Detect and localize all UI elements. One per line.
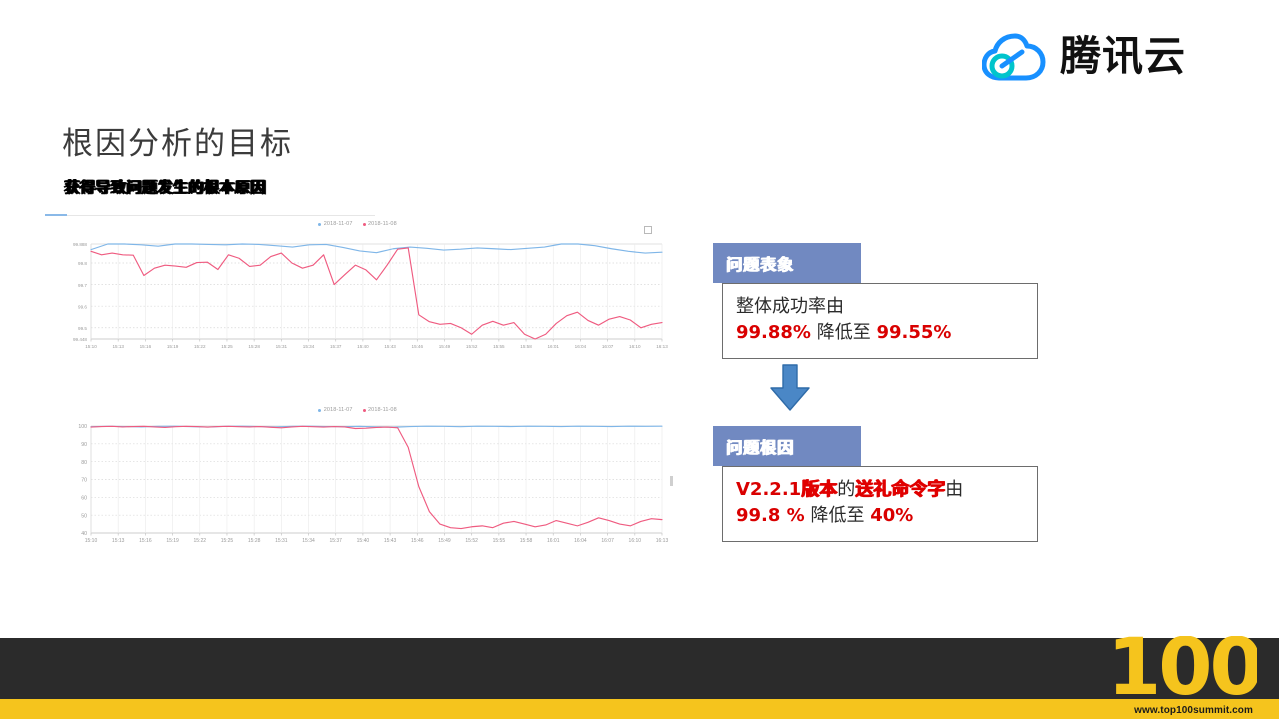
callout-text: 由	[945, 479, 963, 500]
callout-body: V2.2.1版本的送礼命令字由 99.8 % 降低至 40%	[722, 466, 1038, 542]
svg-text:80: 80	[81, 460, 87, 466]
svg-text:15:22: 15:22	[194, 538, 207, 544]
svg-text:15:28: 15:28	[248, 344, 260, 349]
svg-text:15:58: 15:58	[520, 344, 532, 349]
svg-text:15:31: 15:31	[276, 344, 288, 349]
svg-text:90: 90	[81, 442, 87, 448]
callout-text: 的	[837, 479, 855, 500]
svg-text:40: 40	[81, 531, 87, 537]
metric-after: 40%	[870, 505, 913, 526]
svg-text:15:37: 15:37	[329, 538, 342, 544]
svg-text:50: 50	[81, 513, 87, 519]
svg-text:16:13: 16:13	[656, 344, 668, 349]
callout-body: 整体成功率由 99.88% 降低至 99.55%	[722, 283, 1038, 359]
metric-after: 99.55%	[876, 322, 951, 343]
svg-text:99.448: 99.448	[73, 337, 87, 342]
svg-text:100: 100	[1107, 636, 1257, 698]
footer-bar	[0, 638, 1279, 699]
svg-text:99.888: 99.888	[73, 242, 87, 247]
svg-text:15:13: 15:13	[112, 344, 124, 349]
svg-text:15:49: 15:49	[438, 538, 451, 544]
svg-text:99.6: 99.6	[78, 304, 87, 309]
svg-text:15:55: 15:55	[493, 538, 506, 544]
svg-text:70: 70	[81, 478, 87, 484]
svg-text:15:25: 15:25	[221, 538, 234, 544]
svg-text:16:01: 16:01	[547, 538, 560, 544]
chart-panel-success-rate: 2018-11-07 2018-11-08 99.88899.899.799.6…	[45, 212, 670, 357]
svg-text:16:10: 16:10	[629, 538, 642, 544]
metric-before: 99.8 %	[736, 505, 805, 526]
callout-text: 整体成功率由	[736, 296, 844, 317]
svg-text:15:43: 15:43	[384, 538, 397, 544]
svg-text:15:31: 15:31	[275, 538, 288, 544]
svg-text:15:34: 15:34	[302, 538, 315, 544]
svg-text:15:22: 15:22	[194, 344, 206, 349]
version-label: V2.2.1	[736, 479, 801, 500]
arrow-down-icon	[768, 364, 812, 412]
svg-text:15:52: 15:52	[465, 538, 478, 544]
svg-text:99.7: 99.7	[78, 283, 87, 288]
chart1-plot-area: 99.88899.899.799.699.599.44815:1015:1315…	[45, 212, 670, 357]
svg-text:15:37: 15:37	[330, 344, 342, 349]
svg-text:99.8: 99.8	[78, 261, 87, 266]
chart-panel-command-success: 2018-11-07 2018-11-08 10090807060504015:…	[45, 398, 670, 553]
callout-line-2: 99.88% 降低至 99.55%	[736, 320, 1024, 346]
svg-text:15:13: 15:13	[112, 538, 125, 544]
svg-text:60: 60	[81, 496, 87, 502]
svg-text:15:40: 15:40	[357, 538, 370, 544]
page-title: 根因分析的目标	[62, 118, 293, 163]
brand-logo: 腾讯云	[982, 30, 1186, 82]
tencent-cloud-logo-icon	[982, 30, 1046, 82]
svg-text:15:28: 15:28	[248, 538, 261, 544]
callout-root-cause: 问题根因 V2.2.1版本的送礼命令字由 99.8 % 降低至 40%	[713, 426, 1043, 551]
callout-line-1: 整体成功率由	[736, 294, 1024, 320]
svg-text:16:07: 16:07	[601, 538, 614, 544]
svg-text:99.5: 99.5	[78, 326, 87, 331]
chart2-plot-area: 10090807060504015:1015:1315:1615:1915:22…	[45, 398, 670, 553]
slide-root: 腾讯云 根因分析的目标 获得导致问题发生的根本原因 2018-11-07 201…	[0, 0, 1279, 719]
svg-text:16:13: 16:13	[656, 538, 669, 544]
svg-text:15:16: 15:16	[139, 538, 152, 544]
svg-text:15:46: 15:46	[411, 538, 424, 544]
callout-problem-symptom: 问题表象 整体成功率由 99.88% 降低至 99.55%	[713, 243, 1043, 361]
svg-text:15:49: 15:49	[439, 344, 451, 349]
svg-text:15:43: 15:43	[384, 344, 396, 349]
svg-text:15:25: 15:25	[221, 344, 233, 349]
callout-header-text: 问题根因	[726, 434, 794, 458]
svg-text:16:10: 16:10	[629, 344, 641, 349]
metric-connector: 降低至	[810, 505, 864, 526]
svg-text:16:01: 16:01	[547, 344, 559, 349]
callout-line-2: 99.8 % 降低至 40%	[736, 503, 1024, 529]
top100-logo-icon: 100	[1107, 636, 1257, 698]
brand-logo-text: 腾讯云	[1060, 36, 1186, 77]
svg-text:15:52: 15:52	[466, 344, 478, 349]
command-label: 送礼命令字	[855, 479, 945, 500]
svg-text:15:46: 15:46	[412, 344, 424, 349]
svg-text:16:04: 16:04	[575, 344, 587, 349]
metric-before: 99.88%	[736, 322, 811, 343]
callout-line-1: V2.2.1版本的送礼命令字由	[736, 477, 1024, 503]
svg-text:16:07: 16:07	[602, 344, 614, 349]
svg-text:15:10: 15:10	[85, 344, 97, 349]
svg-text:16:04: 16:04	[574, 538, 587, 544]
svg-text:15:40: 15:40	[357, 344, 369, 349]
footer-url: www.top100summit.com	[1134, 705, 1253, 716]
svg-text:15:19: 15:19	[167, 344, 179, 349]
callout-header: 问题根因	[713, 426, 861, 466]
metric-connector: 降低至	[817, 322, 871, 343]
svg-text:100: 100	[78, 424, 87, 430]
svg-text:15:58: 15:58	[520, 538, 533, 544]
version-suffix: 版本	[801, 479, 837, 500]
svg-text:15:55: 15:55	[493, 344, 505, 349]
svg-text:15:19: 15:19	[166, 538, 179, 544]
page-subtitle: 获得导致问题发生的根本原因	[64, 176, 266, 197]
svg-text:15:34: 15:34	[303, 344, 315, 349]
callout-header: 问题表象	[713, 243, 861, 283]
svg-text:15:10: 15:10	[85, 538, 98, 544]
chart-edge-handle[interactable]	[670, 476, 673, 486]
callout-header-text: 问题表象	[726, 251, 794, 275]
svg-text:15:16: 15:16	[140, 344, 152, 349]
footer-strip	[0, 699, 1279, 719]
